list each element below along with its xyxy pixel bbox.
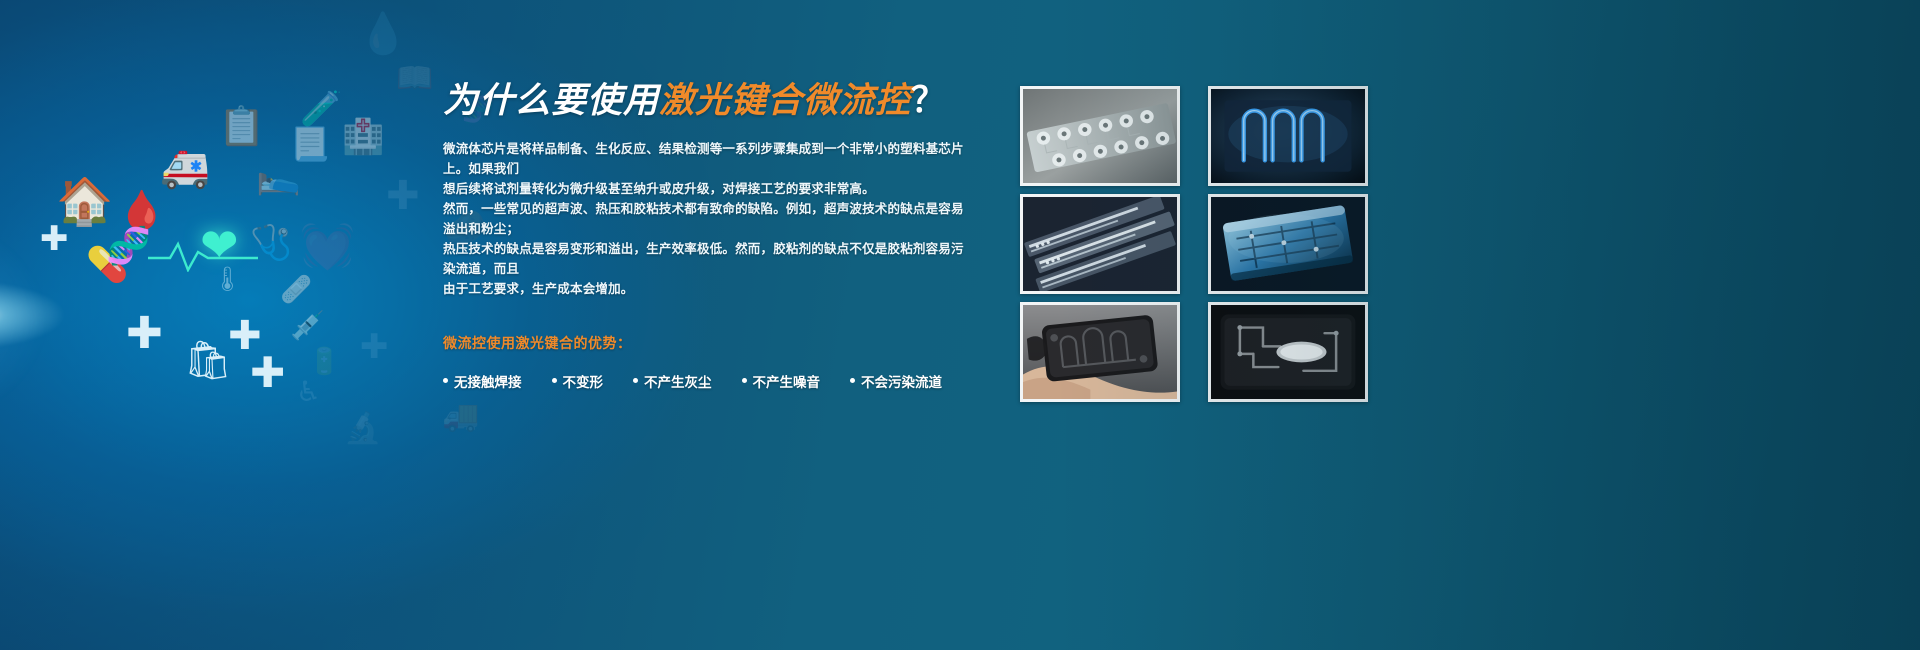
advantages-list: 无接触焊接 不变形 不产生灰尘 不产生噪音 不会污染流道 xyxy=(443,371,973,391)
black-chip-with-chamber-image xyxy=(1211,305,1365,399)
advantage-label: 不变形 xyxy=(563,371,604,391)
plus-cross-icon-b1: ✚ xyxy=(126,312,163,356)
para-line-3: 然而，一些常见的超声波、热压和胶粘技术都有致命的缺陷。例如，超声波技术的缺点是容… xyxy=(443,199,973,239)
plus-cross-icon-b2: ✚ xyxy=(228,316,262,356)
hospital-icon: 🏥 xyxy=(342,120,384,154)
heart-icon: ❤ xyxy=(200,222,239,268)
syringe-icon: 💉 xyxy=(290,312,325,340)
gallery-item-black-cartridge-in-hand xyxy=(1020,302,1180,402)
list-item: 不会污染流道 xyxy=(850,371,942,391)
para-line-4: 热压技术的缺点是容易变形和溢出，生产效率极低。然而，胶粘剂的缺点不仅是胶粘剂容易… xyxy=(443,239,973,279)
gallery-item-serpentine-channel-chip xyxy=(1208,86,1368,186)
id-card-icon: 📋 xyxy=(218,108,265,146)
microscope-icon: 🔬 xyxy=(344,414,381,444)
bandage-icon: 🩹 xyxy=(280,276,312,302)
stethoscope-icon: 🩺 xyxy=(250,226,292,260)
plus-cross-icon-f1: ✚ xyxy=(386,176,420,216)
list-item: 不产生灰尘 xyxy=(633,371,712,391)
wheelchair-icon: ♿ xyxy=(296,378,321,406)
blood-bag-icon: 🩸 xyxy=(118,192,165,230)
light-beam-glow xyxy=(0,150,380,490)
microfluidic-chip-with-ports-image xyxy=(1023,89,1177,183)
advantage-label: 不产生灰尘 xyxy=(644,371,712,391)
thermometer-icon: 🌡 xyxy=(212,268,242,292)
text-column: 为什么要使用激光键合微流控？ 微流体芯片是将样品制备、生化反应、结果检测等一系列… xyxy=(443,82,973,391)
pill-icon: 💊 xyxy=(86,248,128,282)
test-tube-icon: 🧪 xyxy=(300,92,342,126)
product-gallery xyxy=(1020,86,1368,402)
headline-question-mark: ？ xyxy=(911,81,947,120)
promo-banner: 💧 📖 🧬 💓 🥔 🚚 🔬 ♿ 🔋 ✚ ✚ 🧪 📋 📃 🏥 🛌 🩺 🩹 💉 🌡 … xyxy=(0,0,1920,650)
para-line-1: 微流体芯片是将样品制备、生化反应、结果检测等一系列步骤集成到一个非常小的塑料基芯… xyxy=(443,139,973,179)
gallery-item-microfluidic-chip-with-ports xyxy=(1020,86,1180,186)
plus-cross-icon-b3: ✚ xyxy=(250,352,285,394)
headline-lead: 为什么要使用 xyxy=(443,81,659,120)
plus-cross-icon-f2: ✚ xyxy=(360,330,389,364)
truck-icon: 🚚 xyxy=(442,402,479,432)
medical-book-icon: 📖 xyxy=(396,64,433,94)
para-line-2: 想后续将试剂量转化为微升级甚至纳升或皮升级，对焊接工艺的要求非常高。 xyxy=(443,179,973,199)
serpentine-channel-chip-image xyxy=(1211,89,1365,183)
page-title: 为什么要使用激光键合微流控？ xyxy=(443,82,973,121)
bullet-dot-icon xyxy=(633,378,638,383)
gallery-item-blue-manifold-chip xyxy=(1208,194,1368,294)
headline-highlight: 激光键合微流控 xyxy=(659,81,911,120)
advantage-label: 不产生噪音 xyxy=(753,371,821,391)
clipboard-icon: 📃 xyxy=(290,128,330,160)
para-line-5: 由于工艺要求，生产成本会增加。 xyxy=(443,279,973,299)
bullet-dot-icon xyxy=(552,378,557,383)
gallery-item-black-chip-with-chamber xyxy=(1208,302,1368,402)
flask-icon: 💧 xyxy=(358,14,408,54)
battery-icon: 🔋 xyxy=(308,348,340,374)
ambulance-icon: 🚑 xyxy=(160,148,210,188)
advantages-subheading: 微流控使用激光键合的优势： xyxy=(443,333,973,353)
black-cartridge-in-hand-image xyxy=(1023,305,1177,399)
list-item: 不变形 xyxy=(552,371,604,391)
bed-icon: 🛌 xyxy=(256,158,301,194)
first-aid-kit-icon: 🛍 xyxy=(184,342,232,380)
gallery-item-stacked-clear-chips xyxy=(1020,194,1180,294)
plus-cross-icon-b4: ✚ xyxy=(40,222,69,256)
body-paragraphs: 微流体芯片是将样品制备、生化反应、结果检测等一系列步骤集成到一个非常小的塑料基芯… xyxy=(443,139,973,299)
bullet-dot-icon xyxy=(742,378,747,383)
advantage-label: 不会污染流道 xyxy=(861,371,942,391)
test-tube-rack-icon: 🧬 xyxy=(106,228,151,264)
bullet-dot-icon xyxy=(443,378,448,383)
bullet-dot-icon xyxy=(850,378,855,383)
house-cross-icon: 🏠 xyxy=(56,178,113,224)
list-item: 无接触焊接 xyxy=(443,371,522,391)
light-beam-core xyxy=(0,255,260,375)
heartbeat-icon: 💓 xyxy=(300,225,355,269)
blue-manifold-chip-image xyxy=(1211,197,1365,291)
advantage-label: 无接触焊接 xyxy=(454,371,522,391)
heartbeat-line-icon xyxy=(148,238,268,272)
list-item: 不产生噪音 xyxy=(742,371,821,391)
stacked-clear-chips-image xyxy=(1023,197,1177,291)
